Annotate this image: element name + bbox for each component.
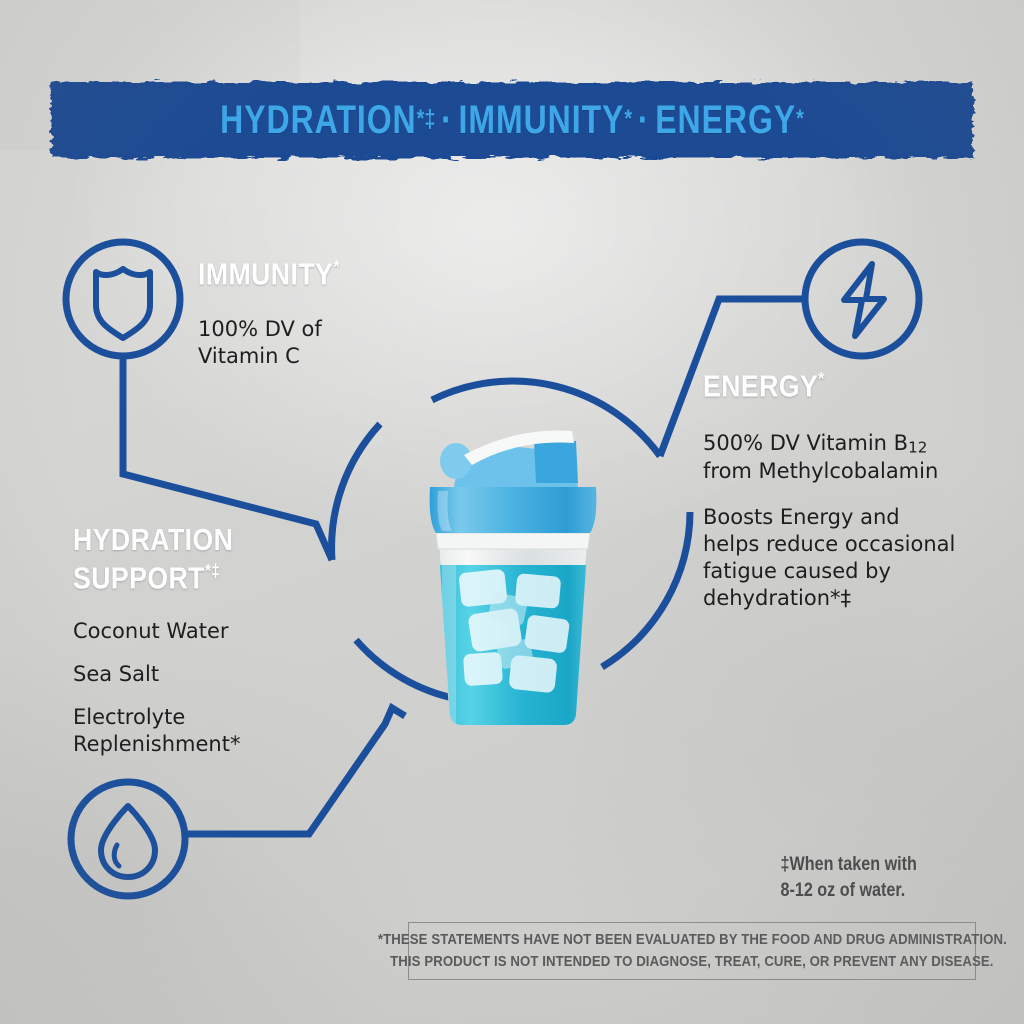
fda-disclaimer-line-1: *THESE STATEMENTS HAVE NOT BEEN EVALUATE… <box>378 929 1007 951</box>
list-item: Sea Salt <box>73 661 363 688</box>
lightning-bolt-icon <box>844 264 884 336</box>
energy-claim-1-prefix: 500% DV Vitamin B <box>703 431 908 455</box>
energy-body: 500% DV Vitamin B12 from Methylcobalamin… <box>703 430 993 611</box>
bottle-flip-cap <box>534 441 578 483</box>
energy-heading-text: ENERGY <box>703 368 818 403</box>
fda-disclaimer-line-2: THIS PRODUCT IS NOT INTENDED TO DIAGNOSE… <box>390 951 993 973</box>
bottle-liquid <box>436 565 592 735</box>
dagger-footnote: ‡When taken with 8-12 oz of water. <box>781 852 977 903</box>
hydration-heading: HYDRATION SUPPORT*‡ <box>73 524 233 593</box>
energy-heading: ENERGY* <box>703 370 824 401</box>
energy-claim-1-line-1: 500% DV Vitamin B12 <box>703 430 993 458</box>
energy-claim-1-subscript: 12 <box>908 439 927 457</box>
product-shaker-bottle <box>398 425 628 735</box>
shield-icon <box>96 269 150 338</box>
list-item-line-1: Electrolyte <box>73 704 363 731</box>
bottle-spout-knob <box>440 443 472 479</box>
energy-claim-2-line-1: Boosts Energy and <box>703 504 993 531</box>
list-item-line-2: Replenishment* <box>73 731 363 758</box>
list-item: Coconut Water <box>73 618 363 645</box>
immunity-body-line-2: Vitamin C <box>198 343 438 370</box>
immunity-heading-marks: * <box>333 256 339 277</box>
energy-claim-1: 500% DV Vitamin B12 from Methylcobalamin <box>703 430 993 485</box>
hydration-heading-line-1: HYDRATION <box>73 524 233 555</box>
energy-claim-2-line-4: dehydration*‡ <box>703 585 993 612</box>
dagger-footnote-line-1: ‡When taken with <box>781 852 977 878</box>
energy-claim-1-line-2: from Methylcobalamin <box>703 458 993 485</box>
fda-disclaimer: *THESE STATEMENTS HAVE NOT BEEN EVALUATE… <box>408 922 976 980</box>
hydration-heading-line-2: SUPPORT <box>73 560 205 595</box>
bottle-collar <box>436 533 590 549</box>
list-item: Electrolyte Replenishment* <box>73 704 363 758</box>
dagger-footnote-line-2: 8-12 oz of water. <box>781 878 977 904</box>
energy-claim-2: Boosts Energy and helps reduce occasiona… <box>703 504 993 612</box>
bottle-lid <box>430 487 597 533</box>
water-drop-icon <box>101 806 155 877</box>
infographic-canvas: HYDRATION*‡·IMMUNITY*·ENERGY* <box>0 0 1024 1024</box>
hydration-heading-marks: *‡ <box>205 560 220 581</box>
immunity-heading: IMMUNITY* <box>198 258 339 289</box>
hydration-ingredient-list: Coconut Water Sea Salt Electrolyte Reple… <box>73 618 363 774</box>
immunity-heading-text: IMMUNITY <box>198 256 333 291</box>
energy-heading-marks: * <box>818 368 824 389</box>
immunity-body-line-1: 100% DV of <box>198 316 438 343</box>
immunity-body: 100% DV of Vitamin C <box>198 316 438 370</box>
energy-claim-2-line-2: helps reduce occasional <box>703 531 993 558</box>
energy-claim-2-line-3: fatigue caused by <box>703 558 993 585</box>
center-circle-upper-left <box>332 424 380 560</box>
